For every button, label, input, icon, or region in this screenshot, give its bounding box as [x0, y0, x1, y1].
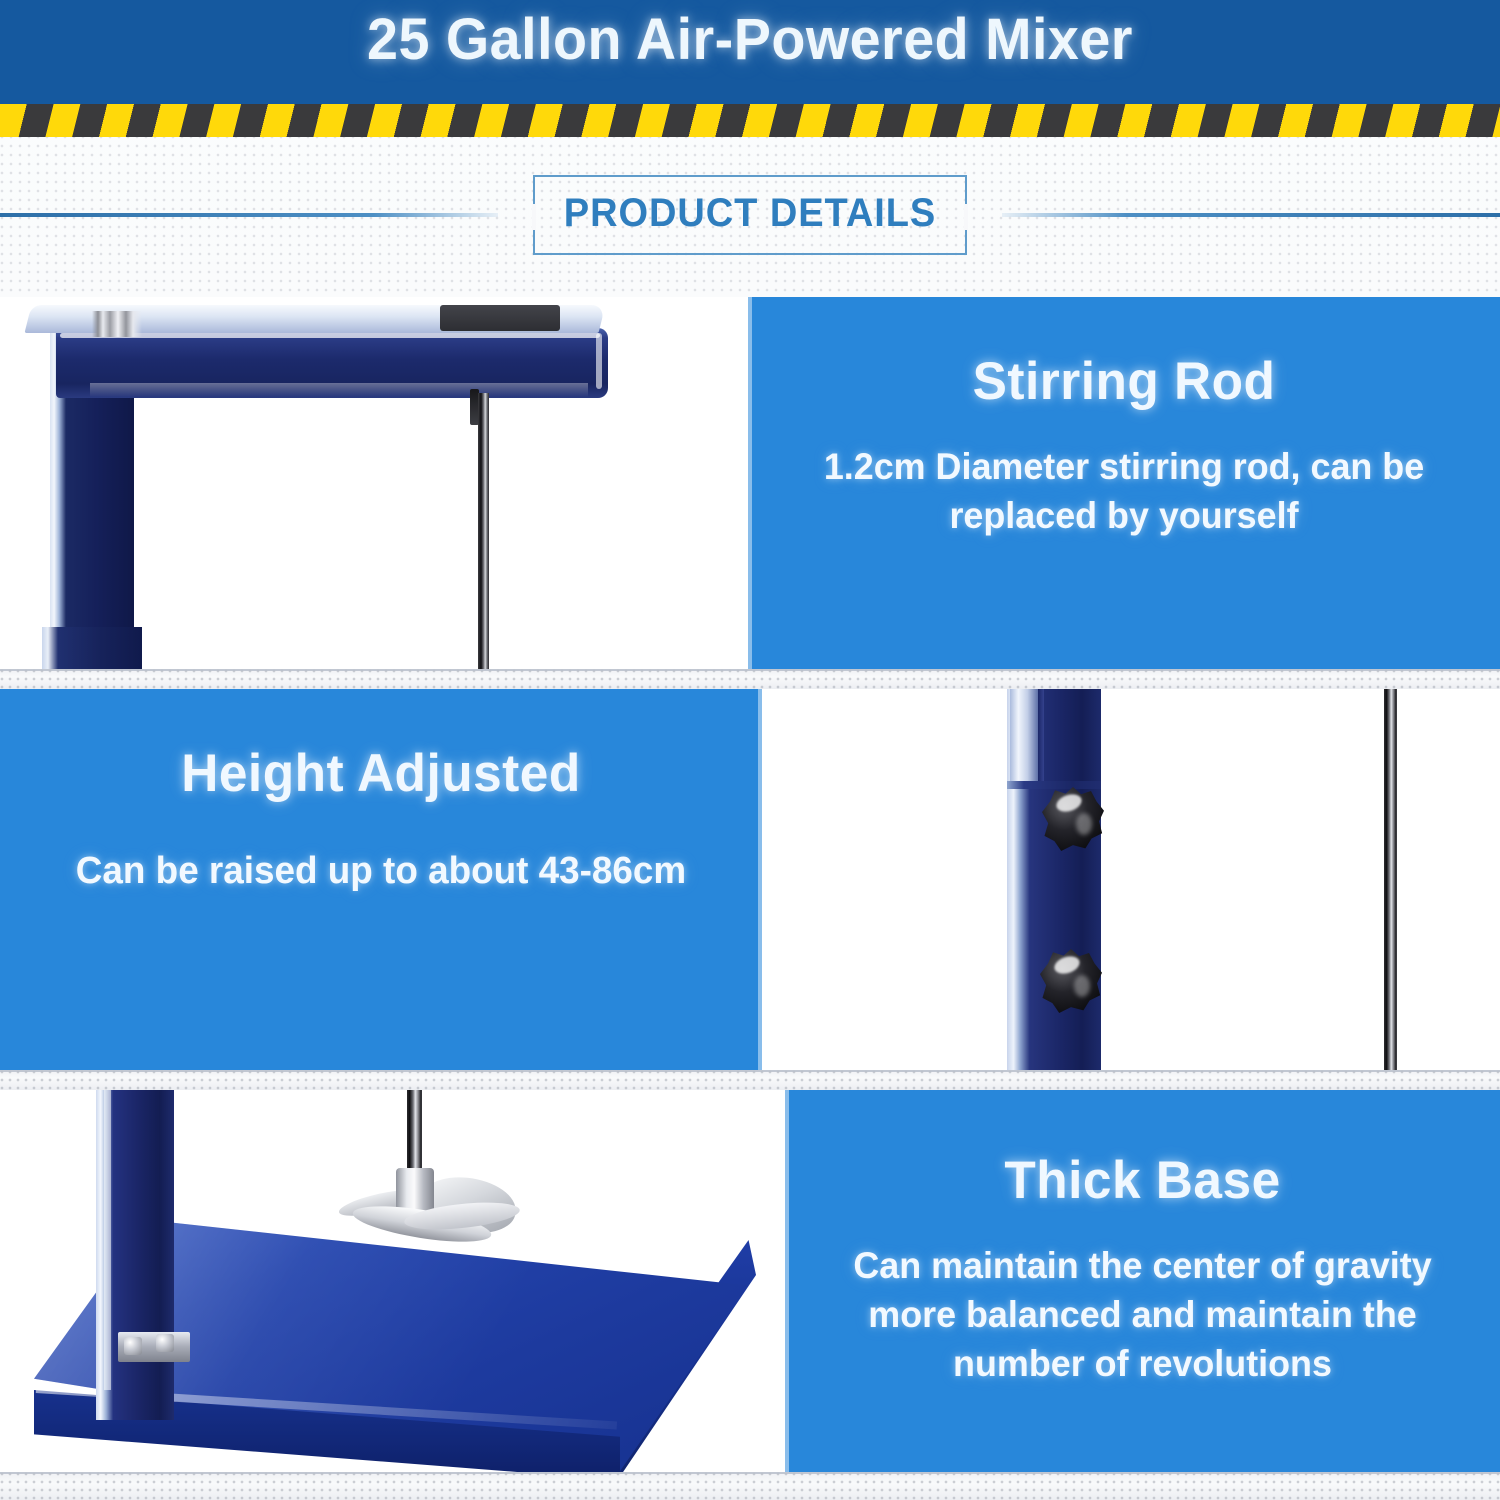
row-divider-texture-1 — [0, 669, 1500, 689]
page-title: 25 Gallon Air-Powered Mixer — [30, 6, 1470, 73]
knob-gloss-secondary — [1076, 813, 1092, 835]
column-seam — [1038, 689, 1044, 789]
mixer-arm-shading — [90, 383, 588, 397]
feature-row-stirring-rod: Stirring Rod 1.2cm Diameter stirring rod… — [0, 297, 1500, 669]
feature-text-thick-base: Thick Base Can maintain the center of gr… — [785, 1090, 1500, 1472]
feature-row-height-adjusted: Height Adjusted Can be raised up to abou… — [0, 689, 1500, 1070]
feature-title: Thick Base — [836, 1150, 1448, 1211]
feature-text-stirring-rod: Stirring Rod 1.2cm Diameter stirring rod… — [748, 297, 1500, 669]
section-banner-box: PRODUCT DETAILS — [533, 175, 967, 255]
bracket-bolt-right — [156, 1334, 174, 1352]
stirring-rod — [478, 393, 489, 669]
mixer-motor-cap — [440, 305, 560, 331]
mixer-post-foot — [42, 627, 142, 669]
infographic-page: 25 Gallon Air-Powered Mixer PRODUCT DETA… — [0, 0, 1500, 1500]
banner-rule-left — [0, 213, 498, 217]
knob-gloss-highlight — [1052, 953, 1082, 976]
knob-gloss-secondary — [1074, 975, 1090, 997]
page-bottom-texture — [0, 1472, 1500, 1500]
stirring-rod — [407, 1090, 422, 1180]
base-column-highlight — [104, 1090, 111, 1390]
thick-base-plate-with-impeller-photo — [0, 1090, 785, 1472]
adjustable-inner-column — [1010, 689, 1038, 785]
column-telescoping-step — [1007, 781, 1101, 789]
stirring-rod — [1384, 689, 1397, 1070]
banner-rule-right — [1002, 213, 1500, 217]
feature-body: Can be raised up to about 43-86cm — [52, 846, 710, 897]
feature-body: Can maintain the center of gravity more … — [836, 1241, 1448, 1389]
bracket-bolt-left — [124, 1337, 142, 1355]
section-banner: PRODUCT DETAILS — [0, 137, 1500, 297]
mixer-head-with-stirring-rod-photo — [0, 297, 748, 669]
section-banner-label: PRODUCT DETAILS — [546, 191, 955, 236]
feature-title: Stirring Rod — [800, 351, 1448, 412]
row-divider-texture-2 — [0, 1070, 1500, 1090]
feature-row-thick-base: Thick Base Can maintain the center of gr… — [0, 1090, 1500, 1472]
adjustable-column-with-knobs-photo — [762, 689, 1500, 1070]
hazard-caution-stripe — [0, 104, 1500, 137]
feature-body: 1.2cm Diameter stirring rod, can be repl… — [800, 442, 1448, 540]
feature-title: Height Adjusted — [52, 743, 710, 804]
feature-text-height-adjusted: Height Adjusted Can be raised up to abou… — [0, 689, 762, 1070]
page-header: 25 Gallon Air-Powered Mixer — [0, 0, 1500, 104]
mixer-arm-end-highlight — [596, 333, 602, 389]
knob-gloss-highlight — [1054, 791, 1084, 814]
mixer-bolts — [92, 311, 142, 337]
